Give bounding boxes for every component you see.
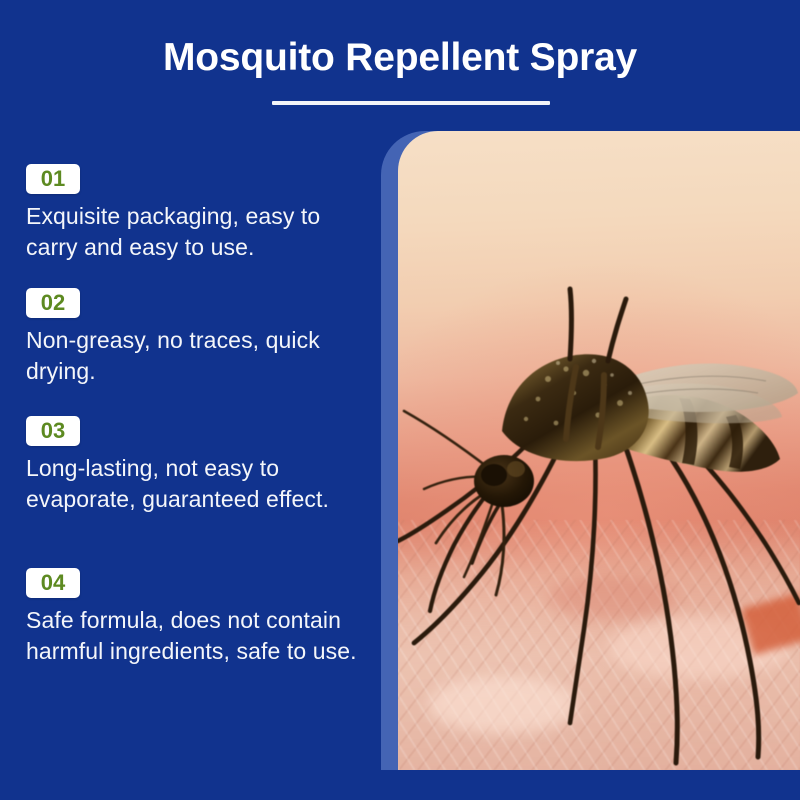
list-item: 03 Long-lasting, not easy to evaporate, … [26,416,376,515]
list-item: 02 Non-greasy, no traces, quick drying. [26,288,376,387]
feature-description: Non-greasy, no traces, quick drying. [26,325,366,387]
product-photo [398,131,800,770]
page-title: Mosquito Repellent Spray [0,34,800,82]
feature-description: Long-lasting, not easy to evaporate, gua… [26,453,366,515]
feature-description: Exquisite packaging, easy to carry and e… [26,201,366,263]
status-badge: 01 [26,164,80,194]
list-item: 01 Exquisite packaging, easy to carry an… [26,164,376,263]
status-badge: 02 [26,288,80,318]
list-item: 04 Safe formula, does not contain harmfu… [26,568,376,667]
poster-canvas: Mosquito Repellent Spray 01 Exquisite pa… [0,0,800,800]
poster-header: Mosquito Repellent Spray [0,0,800,120]
status-badge: 03 [26,416,80,446]
feature-description: Safe formula, does not contain harmful i… [26,605,366,667]
status-badge: 04 [26,568,80,598]
title-underline-divider [272,101,550,105]
mosquito-illustration [398,131,800,770]
